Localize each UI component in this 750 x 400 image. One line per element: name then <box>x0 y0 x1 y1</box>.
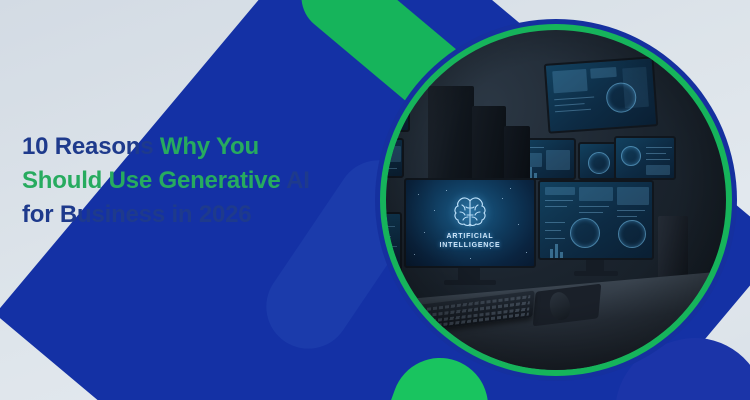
left-monitor-mid <box>386 138 404 178</box>
headline-part-1: 10 Reasons <box>22 133 153 160</box>
headline-part-2: Why You <box>160 133 259 160</box>
main-monitor-ai: ARTIFICIAL INTELLIGENCE <box>404 178 536 268</box>
computer-tower <box>428 86 474 190</box>
headline-part-3: Should Use Generative <box>22 167 281 194</box>
page-title: 10 Reasons Why You Should Use Generative… <box>22 130 342 232</box>
hero-photo: ARTIFICIAL INTELLIGENCE <box>386 30 726 370</box>
left-monitor-upper <box>386 90 410 132</box>
dashboard-monitor <box>538 180 654 260</box>
row-monitor-center <box>578 142 618 180</box>
headline-part-4: AI <box>286 167 310 194</box>
headline-part-5: for Business in 2026 <box>22 201 251 228</box>
wall-monitor <box>544 56 659 134</box>
row-monitor-right <box>614 136 676 180</box>
hero-image-circle: ARTIFICIAL INTELLIGENCE <box>380 24 732 376</box>
left-monitor-lower <box>386 212 402 282</box>
desk-speaker <box>658 216 688 278</box>
promo-banner: ARTIFICIAL INTELLIGENCE <box>0 0 750 400</box>
